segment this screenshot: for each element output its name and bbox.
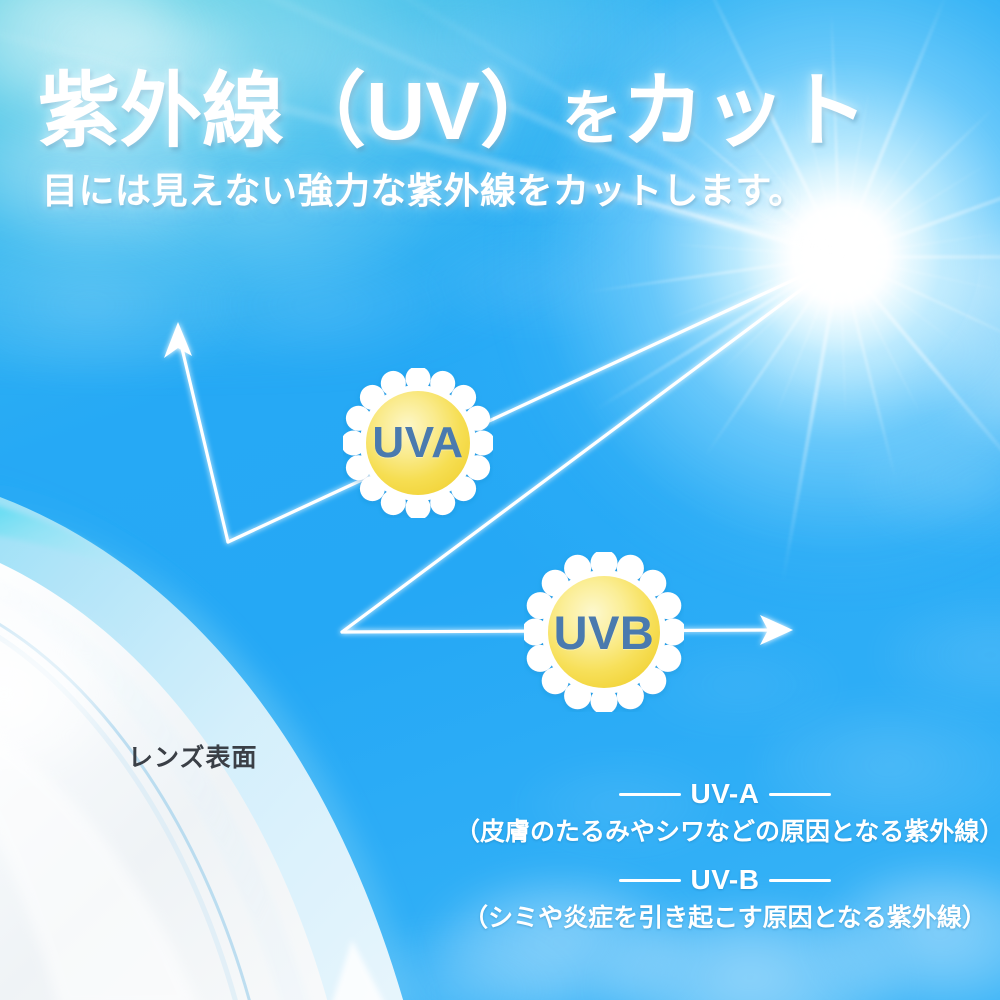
uva-label: UVA <box>343 368 493 518</box>
title-particle: を <box>562 85 622 152</box>
uva-reflected-ray <box>180 340 228 542</box>
page-title: 紫外線（UV）をカット <box>38 44 868 163</box>
legend-group-uvb: UV-B （シミや炎症を引き起こす原因となる紫外線） <box>455 864 995 934</box>
title-part-2: カット <box>622 66 868 157</box>
legend-rule-right-icon <box>769 793 831 796</box>
uva-arrowhead <box>164 322 192 358</box>
legend-desc-uvb: （シミや炎症を引き起こす原因となる紫外線） <box>455 898 995 934</box>
legend-title-uva: UV-A <box>691 778 760 810</box>
legend-title-uvb: UV-B <box>691 864 760 896</box>
legend-rule-left-icon <box>619 879 681 882</box>
legend-row-uvb: UV-B <box>455 864 995 896</box>
uv-cut-infographic: UVA <box>0 0 1000 1000</box>
legend-row-uva: UV-A <box>455 778 995 810</box>
page-subtitle: 目には見えない強力な紫外線をカットします。 <box>42 162 805 214</box>
uva-incident-ray <box>228 262 832 542</box>
legend-desc-uva: （皮膚のたるみやシワなどの原因となる紫外線） <box>455 812 995 848</box>
uvb-label: UVB <box>524 552 684 712</box>
uvb-badge: UVB <box>524 552 684 712</box>
uva-badge: UVA <box>343 368 493 518</box>
legend-rule-left-icon <box>619 793 681 796</box>
title-part-1: 紫外線（UV） <box>38 66 562 157</box>
uv-legend: UV-A （皮膚のたるみやシワなどの原因となる紫外線） UV-B （シミや炎症を… <box>455 778 995 934</box>
legend-rule-right-icon <box>769 879 831 882</box>
lens-surface-label: レンズ表面 <box>128 738 258 774</box>
legend-group-uva: UV-A （皮膚のたるみやシワなどの原因となる紫外線） <box>455 778 995 848</box>
